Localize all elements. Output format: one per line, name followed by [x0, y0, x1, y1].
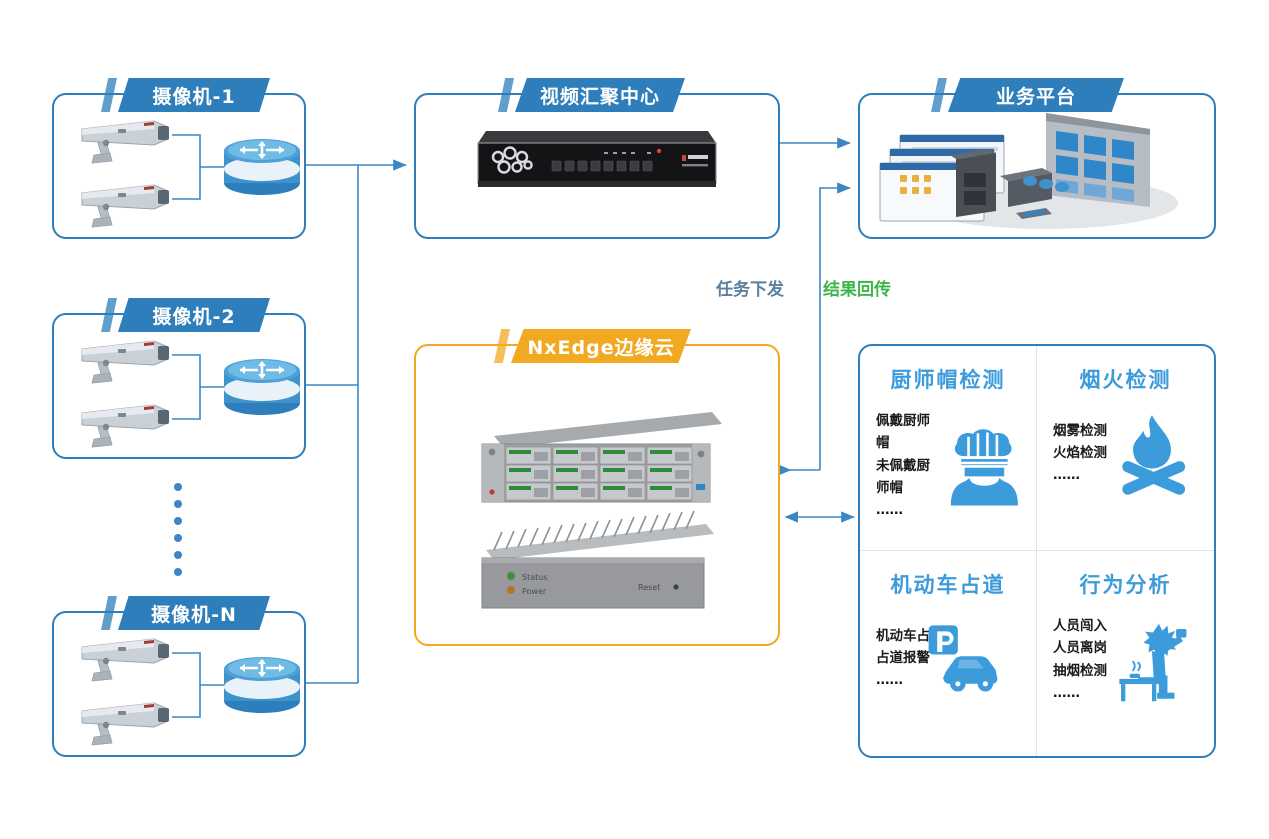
detection-item: 佩戴厨师帽: [876, 410, 942, 455]
camera-continuation-dots: [174, 483, 182, 576]
camera-group-1-illustration: [54, 95, 304, 237]
detection-cell-vehicle-occupation[interactable]: 机动车占道 机动车占道 占道报警 ……: [860, 551, 1037, 756]
router-icon: [224, 139, 300, 195]
detection-cell-chef-hat[interactable]: 厨师帽检测 佩戴厨师帽 未佩戴厨师帽 ……: [860, 346, 1037, 551]
camera-group-2-illustration: [54, 315, 304, 457]
edge-appliance-reset-label: Reset: [638, 583, 660, 592]
detection-capability-panel[interactable]: 厨师帽检测 佩戴厨师帽 未佩戴厨师帽 ……: [858, 344, 1216, 758]
nvr-recorder-icon: [416, 95, 778, 237]
banner-camera-2-label: 摄像机-2: [152, 302, 235, 329]
detection-title-chef-hat: 厨师帽检测: [866, 364, 1030, 394]
nxedge-edge-cloud[interactable]: Status Power Reset: [414, 344, 780, 646]
detection-item: ……: [1053, 464, 1107, 486]
detection-cell-smoke-fire[interactable]: 烟火检测 烟雾检测 火焰检测 ……: [1037, 346, 1214, 551]
detection-item: 烟雾检测: [1053, 420, 1107, 442]
edge-cloud-devices: Status Power Reset: [416, 346, 778, 644]
detection-item: ……: [1053, 682, 1107, 704]
video-aggregation-center[interactable]: [414, 93, 780, 239]
chef-icon: [944, 423, 1030, 509]
banner-camera-1: 摄像机-1: [118, 78, 270, 112]
detection-cell-behavior-analysis[interactable]: 行为分析 人员闯入 人员离岗 抽烟检测 ……: [1037, 551, 1214, 756]
detection-item: ……: [876, 499, 942, 521]
router-icon: [224, 657, 300, 713]
flow-label-task-dispatch: 任务下发: [716, 275, 784, 300]
diagram-canvas: 任务下发 结果回传: [0, 0, 1269, 839]
detection-title-behavior-analysis: 行为分析: [1043, 569, 1208, 599]
banner-nxedge: NxEdge边缘云: [511, 329, 691, 363]
car-parking-icon: [920, 615, 1006, 701]
detection-title-smoke-fire: 烟火检测: [1043, 364, 1208, 394]
campfire-icon: [1109, 410, 1195, 496]
detection-item: 抽烟检测: [1053, 660, 1107, 682]
banner-video-center-label: 视频汇聚中心: [540, 82, 660, 109]
camera-group-1[interactable]: [52, 93, 306, 239]
edge-appliance-icon: Status Power Reset: [482, 511, 714, 608]
edge-appliance-power-label: Power: [522, 587, 547, 596]
router-icon: [224, 359, 300, 415]
banner-camera-n-label: 摄像机-N: [151, 600, 237, 627]
detection-items-chef-hat: 佩戴厨师帽 未佩戴厨师帽 ……: [866, 410, 942, 521]
detection-item: 未佩戴厨师帽: [876, 455, 942, 500]
business-platform[interactable]: [858, 93, 1216, 239]
banner-video-center: 视频汇聚中心: [515, 78, 685, 112]
control-room-icon: [860, 95, 1214, 237]
camera-group-n-illustration: [54, 613, 304, 755]
detection-item: 人员离岗: [1053, 637, 1107, 659]
banner-business-platform: 业务平台: [948, 78, 1124, 112]
detection-items-behavior-analysis: 人员闯入 人员离岗 抽烟检测 ……: [1043, 615, 1107, 704]
detection-item: 人员闯入: [1053, 615, 1107, 637]
detection-items-smoke-fire: 烟雾检测 火焰检测 ……: [1043, 420, 1107, 487]
person-behavior-icon: [1109, 617, 1195, 703]
result-return-arrow: [820, 188, 850, 470]
detection-title-vehicle-occupation: 机动车占道: [866, 569, 1030, 599]
rack-server-icon: [482, 412, 722, 502]
camera-group-n[interactable]: [52, 611, 306, 757]
edge-appliance-status-label: Status: [522, 573, 548, 582]
banner-camera-2: 摄像机-2: [118, 298, 270, 332]
detection-item: 火焰检测: [1053, 442, 1107, 464]
banner-camera-1-label: 摄像机-1: [152, 82, 235, 109]
banner-nxedge-label: NxEdge边缘云: [527, 333, 674, 360]
banner-business-platform-label: 业务平台: [996, 82, 1076, 109]
camera-group-2[interactable]: [52, 313, 306, 459]
flow-label-result-return: 结果回传: [823, 275, 891, 300]
banner-camera-n: 摄像机-N: [118, 596, 270, 630]
